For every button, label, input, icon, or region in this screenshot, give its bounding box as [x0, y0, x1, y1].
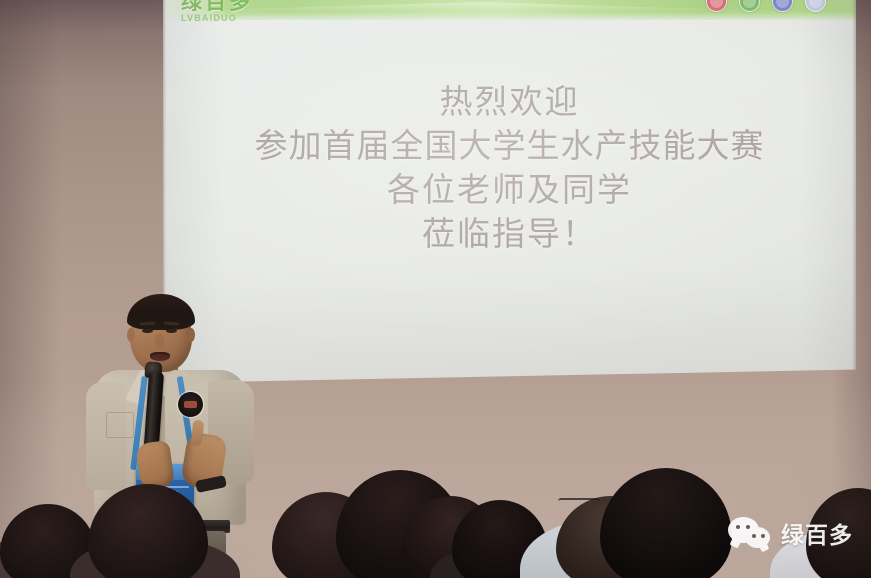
banner-bottom-fade — [163, 12, 856, 20]
emblem-blue — [772, 0, 793, 12]
speaker-ear-right — [187, 328, 195, 342]
emblem-pale — [805, 0, 826, 12]
speaker-chest-emblem — [178, 392, 203, 417]
screen-right-edge — [852, 0, 856, 383]
speaker-mouth — [150, 352, 170, 361]
speaker-nose — [155, 334, 164, 348]
projection-screen: 绿百多 LVBAIDUO 热烈欢迎 参加首届全国大学生水产技能大赛 各位老师及同… — [163, 0, 856, 383]
wechat-dot-3 — [752, 534, 756, 538]
slide-line-2: 参加首届全国大学生水产技能大赛 — [163, 124, 856, 168]
audience-head-8 — [600, 468, 732, 578]
wechat-dot-4 — [761, 534, 765, 538]
slide-emblem-row — [706, 0, 826, 12]
slide-brand-logo: 绿百多 LVBAIDUO — [181, 0, 253, 23]
audience-glasses — [558, 498, 600, 512]
audience-row — [0, 418, 871, 578]
speaker-eye-left — [142, 329, 153, 333]
speaker-hair — [127, 294, 195, 330]
slide-logo-en: LVBAIDUO — [181, 14, 253, 23]
emblem-red — [706, 0, 727, 12]
photo-scene: 绿百多 LVBAIDUO 热烈欢迎 参加首届全国大学生水产技能大赛 各位老师及同… — [0, 0, 871, 578]
wechat-account-name: 绿百多 — [781, 516, 853, 550]
wechat-dot-1 — [736, 525, 740, 529]
wechat-icon — [728, 517, 772, 549]
speaker-ear-left — [127, 328, 135, 342]
wechat-bubble-small — [745, 527, 770, 548]
wechat-dot-2 — [746, 525, 750, 529]
emblem-green — [739, 0, 760, 12]
slide-line-4: 莅临指导！ — [163, 212, 856, 256]
slide-line-3: 各位老师及同学 — [163, 168, 856, 212]
audience-head-2 — [88, 484, 208, 578]
speaker-eye-right — [166, 329, 177, 333]
slide-welcome-text: 热烈欢迎 参加首届全国大学生水产技能大赛 各位老师及同学 莅临指导！ — [163, 80, 856, 256]
slide-logo-cn: 绿百多 — [181, 0, 253, 13]
slide-line-1: 热烈欢迎 — [163, 80, 856, 124]
wechat-watermark: 绿百多 — [728, 516, 853, 550]
